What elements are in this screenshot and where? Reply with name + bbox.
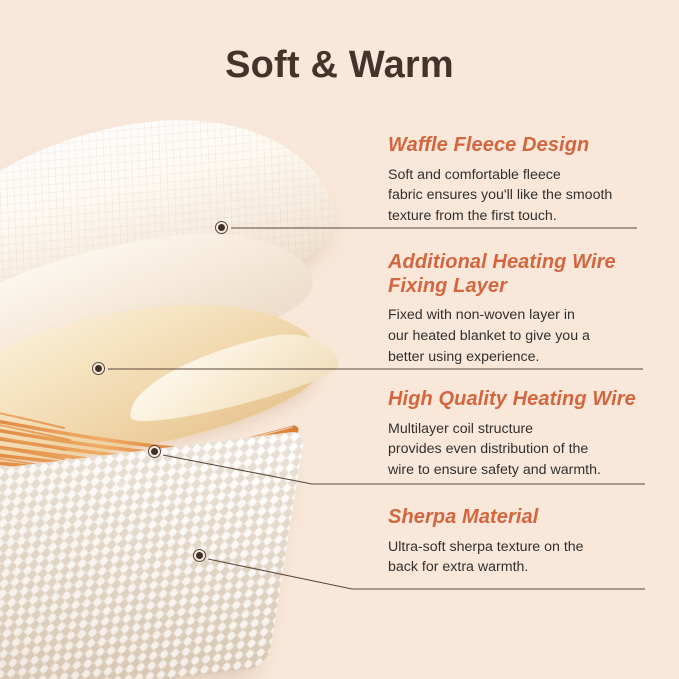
feature-body-line: texture from the first touch. bbox=[388, 206, 656, 227]
feature-block-waffle-fleece: Waffle Fleece Design Soft and comfortabl… bbox=[388, 134, 656, 227]
feature-body-line: Ultra-soft sherpa texture on the bbox=[388, 537, 656, 558]
feature-body-line: provides even distribution of the bbox=[388, 439, 656, 460]
feature-title-line: Additional Heating bbox=[388, 251, 566, 273]
feature-body: Soft and comfortable fleece fabric ensur… bbox=[388, 165, 656, 228]
feature-body-line: better using experience. bbox=[388, 347, 656, 368]
feature-title: Waffle Fleece Design bbox=[388, 134, 656, 158]
feature-block-fixing-layer: Additional Heating Wire Fixing Layer Fix… bbox=[388, 251, 656, 368]
feature-block-sherpa-material: Sherpa Material Ultra-soft sherpa textur… bbox=[388, 506, 656, 578]
feature-body-line: fabric ensures you'll like the smooth bbox=[388, 185, 656, 206]
feature-title: Sherpa Material bbox=[388, 506, 656, 530]
marker-dot-waffle-fleece[interactable] bbox=[215, 221, 228, 234]
page-title: Soft & Warm bbox=[0, 44, 679, 87]
sherpa-shading bbox=[0, 430, 305, 679]
feature-body-line: our heated blanket to give you a bbox=[388, 326, 656, 347]
feature-body-line: Fixed with non-woven layer in bbox=[388, 305, 656, 326]
product-infographic: Soft & Warm bbox=[0, 0, 679, 679]
feature-body-line: Multilayer coil structure bbox=[388, 419, 656, 440]
feature-body-line: wire to ensure safety and warmth. bbox=[388, 460, 656, 481]
feature-title: High Quality Heating Wire bbox=[388, 388, 656, 412]
feature-body-line: back for extra warmth. bbox=[388, 557, 656, 578]
feature-title: Additional Heating Wire Fixing Layer bbox=[388, 251, 656, 298]
feature-body: Ultra-soft sherpa texture on the back fo… bbox=[388, 537, 656, 579]
feature-body: Multilayer coil structure provides even … bbox=[388, 419, 656, 482]
feature-block-heating-wire: High Quality Heating Wire Multilayer coi… bbox=[388, 388, 656, 481]
marker-dot-heating-wire[interactable] bbox=[148, 445, 161, 458]
feature-body: Fixed with non-woven layer in our heated… bbox=[388, 305, 656, 368]
marker-dot-sherpa-material[interactable] bbox=[193, 549, 206, 562]
feature-body-line: Soft and comfortable fleece bbox=[388, 165, 656, 186]
marker-dot-fixing-layer[interactable] bbox=[92, 362, 105, 375]
sherpa-backing-layer bbox=[0, 430, 305, 679]
product-illustration bbox=[0, 118, 374, 658]
